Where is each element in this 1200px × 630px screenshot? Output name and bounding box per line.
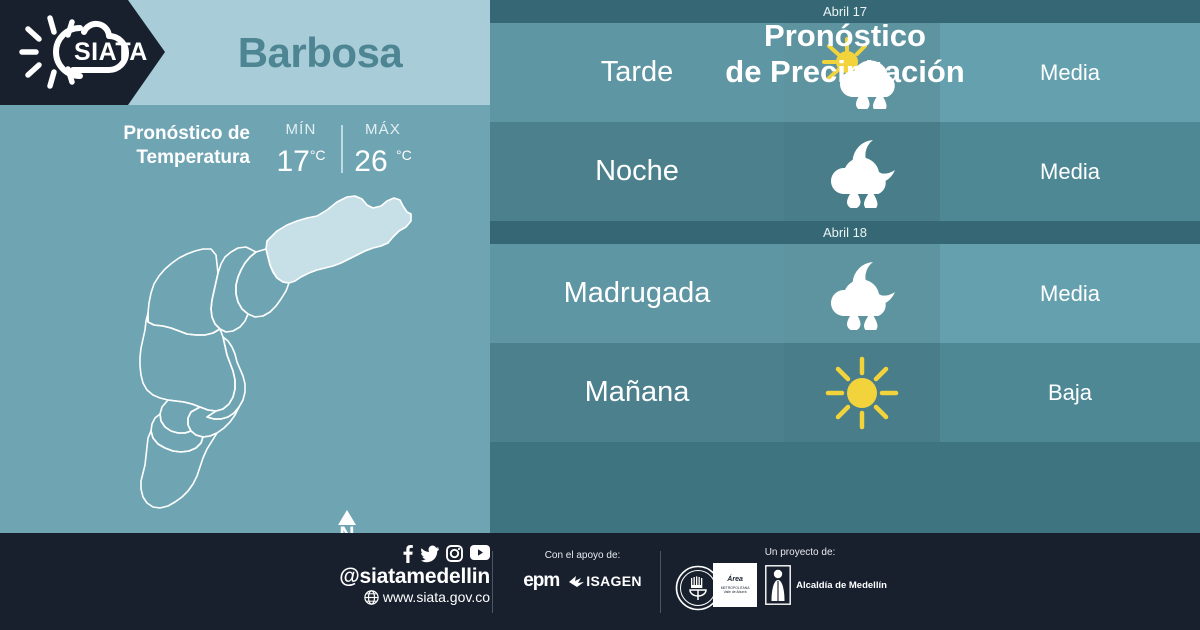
sun-icon	[784, 343, 940, 442]
temperature-title: Pronóstico de Temperatura	[60, 122, 250, 170]
project-logos: Área METROPOLITANA Valle de Aburrá Alcal…	[700, 563, 900, 607]
temperature-min-label: MÍN	[285, 121, 316, 138]
map-region-sabaneta[interactable]	[151, 414, 203, 452]
map-svg	[55, 185, 445, 530]
temperature-values: MÍN 17°C MÁX 26 °C	[265, 121, 419, 177]
precipitation-level: Baja	[940, 343, 1200, 442]
forecast-row[interactable]: Madrugada Media	[490, 244, 1200, 343]
area-logo-name: Área	[727, 576, 743, 584]
temperature-min: MÍN 17°C	[265, 121, 337, 177]
forecast-period: Noche	[490, 122, 784, 221]
alcaldia-crest-icon	[765, 565, 791, 605]
website-row[interactable]: www.siata.gov.co	[330, 589, 490, 605]
isagen-label: ISAGEN	[586, 573, 641, 589]
alcaldia-label: Alcaldía de Medellín	[796, 580, 887, 591]
temperature-min-unit: °C	[310, 147, 326, 163]
globe-icon	[364, 590, 379, 605]
map-region-caldas[interactable]	[141, 431, 217, 508]
project-block: Un proyecto de: Área METROPOLITANA Valle…	[700, 547, 900, 607]
map-region-bello[interactable]	[148, 249, 220, 335]
moon-cloud-rain-icon	[784, 244, 940, 343]
moon-cloud-rain-icon	[784, 122, 940, 221]
precipitation-title-line2: de Precipitación	[725, 54, 964, 90]
social-handle[interactable]: @siatamedellin	[330, 565, 490, 589]
alcaldia-logo[interactable]: Alcaldía de Medellín	[765, 565, 887, 605]
area-logo-sub: METROPOLITANA Valle de Aburrá	[721, 586, 750, 594]
social-icons	[330, 545, 490, 563]
twitter-icon[interactable]	[421, 545, 439, 563]
facebook-icon[interactable]	[400, 545, 414, 563]
temperature-title-line1: Pronóstico de	[60, 122, 250, 146]
forecast-row[interactable]: Noche Media	[490, 122, 1200, 221]
precipitation-title: Pronóstico de Precipitación	[490, 0, 1200, 108]
map-region-barbosa[interactable]	[266, 196, 411, 283]
website-url[interactable]: www.siata.gov.co	[383, 589, 490, 605]
forecast-period: Mañana	[490, 343, 784, 442]
map-region-copacabana[interactable]	[211, 247, 256, 332]
svg-text:SIATA: SIATA	[74, 38, 148, 66]
support-logos: epm ISAGEN	[505, 570, 660, 592]
temperature-max: MÁX 26 °C	[347, 121, 419, 177]
temperature-max-unit: °C	[396, 147, 412, 163]
temperature-max-value: 26 °C	[354, 140, 411, 177]
temperature-min-value: 17°C	[276, 140, 325, 177]
temperature-block: Pronóstico de Temperatura MÍN 17°C MÁX 2…	[60, 122, 440, 184]
project-title: Un proyecto de:	[700, 547, 900, 558]
temperature-divider	[341, 125, 343, 173]
footer: @siatamedellin www.siata.gov.co Con el a…	[0, 533, 1200, 630]
temperature-title-line2: Temperatura	[60, 146, 250, 170]
sun-cloud-icon: SIATA	[14, 14, 151, 91]
forecast-row[interactable]: Mañana Baja	[490, 343, 1200, 442]
date-band-2: Abril 18	[490, 221, 1200, 244]
precipitation-title-line1: Pronóstico	[764, 18, 926, 54]
precipitation-level: Media	[940, 122, 1200, 221]
left-panel: Barbosa SIATA Pronóstico de	[0, 0, 490, 533]
footer-divider-2	[660, 551, 661, 613]
instagram-icon[interactable]	[446, 545, 463, 562]
social-block: @siatamedellin www.siata.gov.co	[330, 545, 490, 605]
precipitation-level: Media	[940, 244, 1200, 343]
support-block: Con el apoyo de: epm ISAGEN	[505, 550, 660, 592]
epm-logo[interactable]: epm	[523, 570, 559, 592]
precipitation-panel: Pronóstico de Precipitación Abril 17 Tar…	[490, 0, 1200, 533]
forecast-period: Madrugada	[490, 244, 784, 343]
isagen-logo[interactable]: ISAGEN	[569, 573, 641, 589]
temperature-max-label: MÁX	[365, 121, 401, 138]
isagen-mark-icon	[569, 575, 584, 588]
footer-divider-1	[492, 551, 493, 613]
youtube-icon[interactable]	[470, 545, 490, 560]
weather-forecast-infographic: Barbosa SIATA Pronóstico de	[0, 0, 1200, 630]
support-title: Con el apoyo de:	[505, 550, 660, 561]
area-metropolitana-logo[interactable]: Área METROPOLITANA Valle de Aburrá	[713, 563, 757, 607]
page-title: Barbosa	[150, 0, 490, 105]
aburra-valley-map[interactable]: N	[55, 185, 445, 530]
map-region-west-north[interactable]	[140, 313, 235, 411]
